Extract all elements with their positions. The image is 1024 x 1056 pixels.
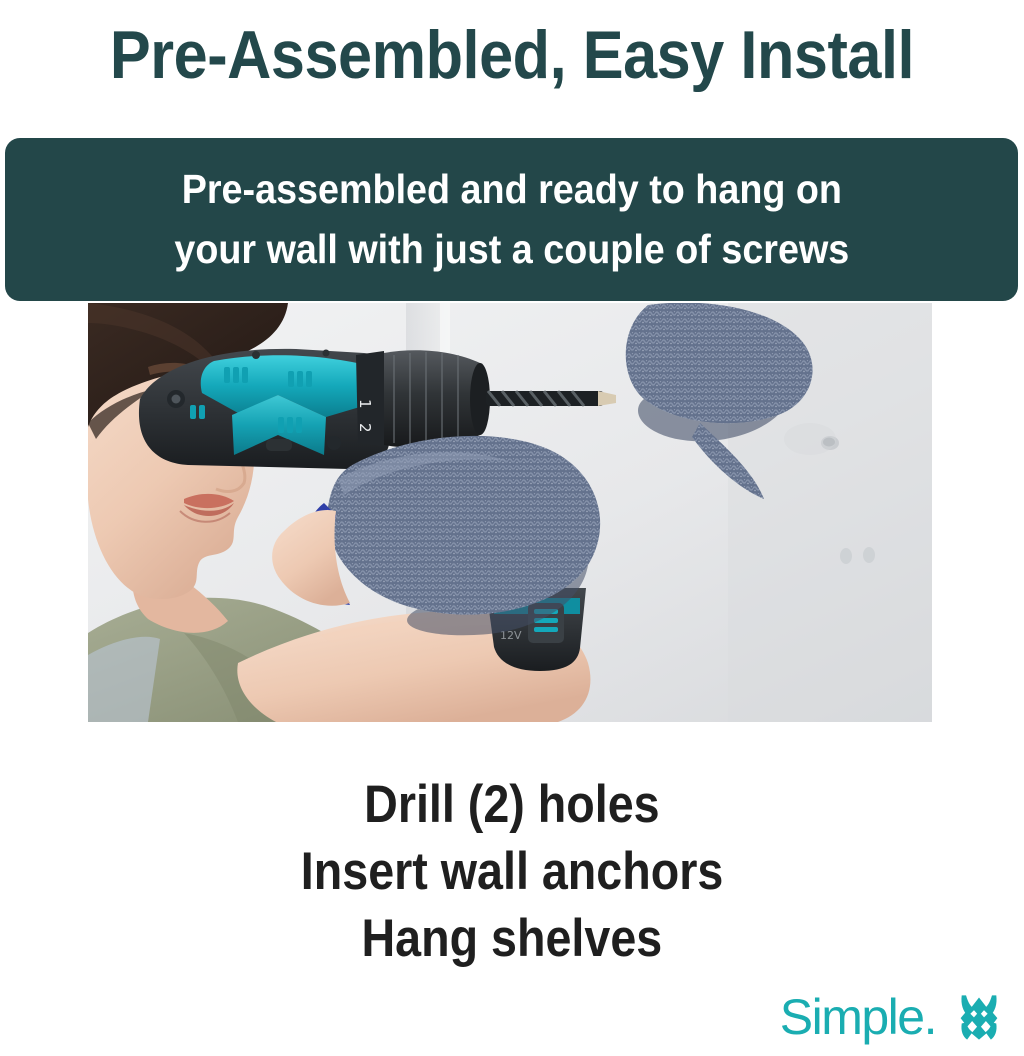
- banner-line-2: your wall with just a couple of screws: [174, 220, 849, 279]
- step-line-2: Insert wall anchors: [301, 839, 723, 906]
- lattice-mark-svg: [952, 990, 1006, 1044]
- clutch-number-2: 2: [356, 423, 374, 433]
- installation-photo: 12V: [88, 303, 932, 722]
- clutch-number-1: 1: [356, 399, 374, 409]
- photo-illustration: 12V: [88, 303, 932, 722]
- step-line-1: Drill (2) holes: [364, 772, 659, 839]
- drill-bit: [486, 391, 616, 406]
- drill-chuck: [384, 350, 480, 448]
- brand-wordmark: Simple.: [780, 992, 936, 1042]
- highlight-banner: Pre-assembled and ready to hang on your …: [5, 138, 1018, 301]
- page-title: Pre-Assembled, Easy Install: [51, 0, 973, 110]
- banner-line-1: Pre-assembled and ready to hang on: [181, 160, 841, 219]
- step-line-3: Hang shelves: [362, 906, 663, 973]
- simple-lattice-icon: [952, 990, 1006, 1044]
- installation-steps: Drill (2) holes Insert wall anchors Hang…: [0, 772, 1024, 972]
- brand-logo: Simple.: [780, 990, 1006, 1044]
